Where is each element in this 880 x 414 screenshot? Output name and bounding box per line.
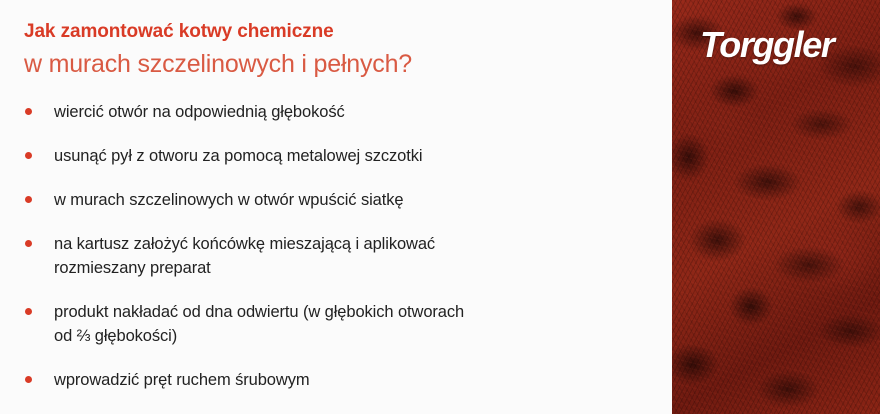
list-item-label: wiercić otwór na odpowiednią głębokość	[54, 100, 662, 124]
title-block: Jak zamontować kotwy chemiczne w murach …	[24, 20, 654, 81]
list-item-label: na kartusz założyć końcówkę mieszającą i…	[54, 232, 662, 280]
instruction-list: wiercić otwór na odpowiednią głębokość u…	[22, 100, 662, 392]
list-item: w murach szczelinowych w otwór wpuścić s…	[22, 188, 662, 212]
list-item: produkt nakładać od dna odwiertu (w głęb…	[22, 300, 662, 348]
list-item-label: wprowadzić pręt ruchem śrubowym	[54, 368, 662, 392]
brand-logo: Torggler	[700, 24, 872, 66]
list-item-label: w murach szczelinowych w otwór wpuścić s…	[54, 188, 662, 212]
bullet-dot-icon	[25, 196, 32, 203]
list-item: usunąć pył z otworu za pomocą metalowej …	[22, 144, 662, 168]
bullet-dot-icon	[25, 376, 32, 383]
bullet-dot-icon	[25, 152, 32, 159]
list-item-label: produkt nakładać od dna odwiertu (w głęb…	[54, 300, 662, 348]
content-panel: Jak zamontować kotwy chemiczne w murach …	[0, 0, 672, 414]
list-item: wprowadzić pręt ruchem śrubowym	[22, 368, 662, 392]
bullet-dot-icon	[25, 240, 32, 247]
slide-root: Jak zamontować kotwy chemiczne w murach …	[0, 0, 880, 414]
list-item-label: usunąć pył z otworu za pomocą metalowej …	[54, 144, 662, 168]
page-title-secondary: w murach szczelinowych i pełnych?	[24, 47, 654, 81]
list-item: na kartusz założyć końcówkę mieszającą i…	[22, 232, 662, 280]
page-title-primary: Jak zamontować kotwy chemiczne	[24, 20, 654, 44]
list-item: wiercić otwór na odpowiednią głębokość	[22, 100, 662, 124]
bullet-dot-icon	[25, 308, 32, 315]
bullet-dot-icon	[25, 108, 32, 115]
